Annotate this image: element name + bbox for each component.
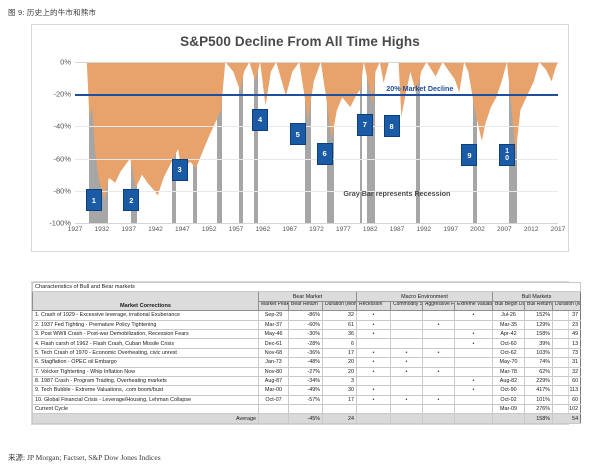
cell-bull-return: 276% xyxy=(525,405,553,414)
y-axis-tick-label: -60% xyxy=(53,154,71,163)
cell-recession: • xyxy=(357,320,391,329)
figure-page: 图 9: 历史上的牛市和熊市 S&P500 Decline From All T… xyxy=(0,0,600,471)
cell-bear-duration: 61 xyxy=(323,320,357,329)
correction-name: 2. 1937 Fed Tighting - Premature Policy … xyxy=(33,320,259,329)
x-axis-tick-label: 1942 xyxy=(148,226,163,233)
col-bear-return: Bear Return xyxy=(289,301,323,310)
cell-recession: • xyxy=(357,311,391,320)
x-axis-tick-label: 1957 xyxy=(229,226,244,233)
correction-name: 10. Global Financial Crisis - Leverage/H… xyxy=(33,395,259,404)
table-row[interactable]: 4. Flash carsh of 1962 - Flash Crash, Cu… xyxy=(33,339,581,348)
cell-extreme-valuations: • xyxy=(455,329,493,338)
chart-gridline xyxy=(75,223,558,224)
x-axis-tick-label: 1967 xyxy=(282,226,297,233)
cell-recession: • xyxy=(357,358,391,367)
y-axis-tick-label: 0% xyxy=(60,58,71,67)
col-market-peak: Market Peak xyxy=(259,301,289,310)
cell-commodity-spike: • xyxy=(391,358,423,367)
col-bull-return: Bull Return xyxy=(525,301,553,310)
source-note: 来源: JP Morgan; Factset, S&P Dow Jones In… xyxy=(8,452,161,463)
x-axis-tick-label: 1947 xyxy=(175,226,190,233)
x-axis-tick-label: 1982 xyxy=(363,226,378,233)
correction-name: Current Cycle xyxy=(33,405,259,414)
col-bull-begin-date: Bull Begin Date xyxy=(493,301,525,310)
cell-bull-duration: 23 xyxy=(553,320,581,329)
cell-aggressive-fed xyxy=(423,376,455,385)
x-axis-tick-label: 1992 xyxy=(416,226,431,233)
cell-bear-return: -49% xyxy=(289,386,323,395)
x-axis-tick-label: 1997 xyxy=(443,226,458,233)
col-bear-duration: Duration (Months) xyxy=(323,301,357,310)
cell-bull-begin-date: Oct-90 xyxy=(493,386,525,395)
chart-callout-marker-5[interactable]: 5 xyxy=(290,123,306,145)
average-recession xyxy=(357,414,391,423)
cell-market-peak: Mar-00 xyxy=(259,386,289,395)
correction-name: 7. Volcker Tighterting - Whip Inflation … xyxy=(33,367,259,376)
table-row[interactable]: 1. Crash of 1929 - Excessive leverage, i… xyxy=(33,311,581,320)
chart-callout-marker-9[interactable]: 9 xyxy=(461,144,477,166)
correction-name: 9. Tech Bubble - Extreme Valuations, .co… xyxy=(33,386,259,395)
cell-bear-return: -57% xyxy=(289,395,323,404)
cell-aggressive-fed: • xyxy=(423,395,455,404)
cell-recession xyxy=(357,376,391,385)
x-axis-tick-label: 1952 xyxy=(202,226,217,233)
cell-bear-duration: 3 xyxy=(323,376,357,385)
cell-commodity-spike xyxy=(391,405,423,414)
cell-bull-begin-date: Oct-02 xyxy=(493,395,525,404)
cell-extreme-valuations xyxy=(455,358,493,367)
cell-bull-return: 103% xyxy=(525,348,553,357)
cell-bear-duration xyxy=(323,405,357,414)
cell-bear-duration: 30 xyxy=(323,386,357,395)
average-extreme-valuations xyxy=(455,414,493,423)
chart-callout-marker-1[interactable]: 1 xyxy=(86,189,102,211)
average-bull-duration: 54 xyxy=(553,414,581,423)
cell-recession xyxy=(357,339,391,348)
cell-extreme-valuations xyxy=(455,395,493,404)
table-row[interactable]: 5. Tech Crash of 1970 - Economic Overhea… xyxy=(33,348,581,357)
cell-aggressive-fed xyxy=(423,405,455,414)
cell-bull-begin-date: Apr-42 xyxy=(493,329,525,338)
cell-commodity-spike xyxy=(391,376,423,385)
cell-bear-return: -48% xyxy=(289,358,323,367)
correction-name: 1. Crash of 1929 - Excessive leverage, i… xyxy=(33,311,259,320)
cell-bear-return: -27% xyxy=(289,367,323,376)
table-caption-row: Characteristics of Bull and Bear markets xyxy=(33,283,581,292)
x-axis-tick-label: 1932 xyxy=(94,226,109,233)
cell-bull-begin-date: Oct-62 xyxy=(493,348,525,357)
cell-extreme-valuations xyxy=(455,405,493,414)
table-row[interactable]: 10. Global Financial Crisis - Leverage/H… xyxy=(33,395,581,404)
cell-bear-return: -60% xyxy=(289,320,323,329)
cell-extreme-valuations: • xyxy=(455,376,493,385)
market-corrections-header: Market Corrections xyxy=(33,292,259,311)
chart-callout-marker-6[interactable]: 6 xyxy=(317,143,333,165)
average-market-peak xyxy=(259,414,289,423)
x-axis-tick-label: 2017 xyxy=(551,226,566,233)
cell-bear-duration: 17 xyxy=(323,348,357,357)
market-decline-threshold-label: 20% Market Decline xyxy=(386,84,453,93)
cell-extreme-valuations: • xyxy=(455,311,493,320)
cell-bull-begin-date: Aug-82 xyxy=(493,376,525,385)
cell-bear-duration: 6 xyxy=(323,339,357,348)
cell-bull-return: 39% xyxy=(525,339,553,348)
cell-bull-return: 101% xyxy=(525,395,553,404)
col-commodity-spike: Commodity Spike xyxy=(391,301,423,310)
chart-panel: S&P500 Decline From All Time Highs 0%-20… xyxy=(31,24,569,252)
cell-bear-return: -28% xyxy=(289,339,323,348)
cell-market-peak: May-46 xyxy=(259,329,289,338)
chart-callout-marker-8[interactable]: 8 xyxy=(384,115,400,137)
cell-market-peak: Sep-29 xyxy=(259,311,289,320)
cell-bull-begin-date: Mar-09 xyxy=(493,405,525,414)
cell-commodity-spike xyxy=(391,339,423,348)
cell-market-peak xyxy=(259,405,289,414)
cell-recession: • xyxy=(357,348,391,357)
correction-name: 5. Tech Crash of 1970 - Economic Overhea… xyxy=(33,348,259,357)
cell-market-peak: Nov-68 xyxy=(259,348,289,357)
cell-bull-return: 417% xyxy=(525,386,553,395)
col-bull-duration: Duration (Months) xyxy=(553,301,581,310)
group-header-macro-environment: Macro Environment xyxy=(357,292,493,301)
cell-bull-return: 229% xyxy=(525,376,553,385)
cell-extreme-valuations xyxy=(455,348,493,357)
cell-bull-duration: 113 xyxy=(553,386,581,395)
chart-callout-marker-10[interactable]: 10 xyxy=(499,144,515,166)
cell-aggressive-fed xyxy=(423,386,455,395)
cell-bull-return: 158% xyxy=(525,329,553,338)
cell-bull-return: 152% xyxy=(525,311,553,320)
table-row[interactable]: 2. 1937 Fed Tighting - Premature Policy … xyxy=(33,320,581,329)
average-bull-return: 158% xyxy=(525,414,553,423)
table-row[interactable]: Current CycleMar-09276%102 xyxy=(33,405,581,414)
cell-bull-duration: 60 xyxy=(553,376,581,385)
chart-callout-marker-3[interactable]: 3 xyxy=(172,159,188,181)
x-axis-tick-label: 1987 xyxy=(390,226,405,233)
cell-commodity-spike xyxy=(391,311,423,320)
cell-extreme-valuations xyxy=(455,367,493,376)
group-header-row: Market Corrections Bear Market Macro Env… xyxy=(33,292,581,301)
cell-bull-duration: 13 xyxy=(553,339,581,348)
cell-recession xyxy=(357,405,391,414)
cell-bear-duration: 17 xyxy=(323,395,357,404)
cell-bull-return: 74% xyxy=(525,358,553,367)
cell-bear-duration: 20 xyxy=(323,367,357,376)
cell-bull-begin-date: Oct-60 xyxy=(493,339,525,348)
cell-aggressive-fed xyxy=(423,339,455,348)
cell-recession: • xyxy=(357,395,391,404)
cell-extreme-valuations: • xyxy=(455,339,493,348)
cell-bear-return: -36% xyxy=(289,348,323,357)
cell-aggressive-fed: • xyxy=(423,367,455,376)
col-aggressive-fed: Aggressive Fed xyxy=(423,301,455,310)
cell-aggressive-fed: • xyxy=(423,320,455,329)
cell-bear-return: -30% xyxy=(289,329,323,338)
average-aggressive-fed xyxy=(423,414,455,423)
recession-legend-label: Gray Bar represents Recession xyxy=(343,189,450,198)
correction-name: 8. 1987 Crash - Program Trading, Overhea… xyxy=(33,376,259,385)
average-bull-begin xyxy=(493,414,525,423)
cell-bull-return: 62% xyxy=(525,367,553,376)
cell-market-peak: Jan-73 xyxy=(259,358,289,367)
table-row[interactable]: 9. Tech Bubble - Extreme Valuations, .co… xyxy=(33,386,581,395)
cell-bull-duration: 73 xyxy=(553,348,581,357)
group-header-bull-markets: Bull Markets xyxy=(493,292,581,301)
correction-name: 4. Flash carsh of 1962 - Flash Crash, Cu… xyxy=(33,339,259,348)
cell-recession: • xyxy=(357,367,391,376)
table-body: 1. Crash of 1929 - Excessive leverage, i… xyxy=(33,311,581,414)
cell-bear-return: -34% xyxy=(289,376,323,385)
cell-aggressive-fed xyxy=(423,329,455,338)
cell-bull-duration: 49 xyxy=(553,329,581,338)
cell-bull-duration: 102 xyxy=(553,405,581,414)
cell-commodity-spike xyxy=(391,320,423,329)
average-bear-return: -45% xyxy=(289,414,323,423)
group-header-bear-market: Bear Market xyxy=(259,292,357,301)
y-axis-tick-label: -20% xyxy=(53,90,71,99)
cell-aggressive-fed: • xyxy=(423,348,455,357)
figure-caption: 图 9: 历史上的牛市和熊市 xyxy=(8,7,96,18)
cell-commodity-spike: • xyxy=(391,367,423,376)
cell-recession: • xyxy=(357,386,391,395)
cell-bull-duration: 60 xyxy=(553,395,581,404)
x-axis-tick-label: 2002 xyxy=(470,226,485,233)
chart-plot-area: 0%-20%-40%-60%-80%-100%19271932193719421… xyxy=(75,62,558,223)
cell-bull-duration: 37 xyxy=(553,311,581,320)
chart-gridline xyxy=(75,62,558,63)
cell-bear-duration: 36 xyxy=(323,329,357,338)
col-extreme-valuations: Extreme Valuations xyxy=(455,301,493,310)
x-axis-tick-label: 1977 xyxy=(336,226,351,233)
x-axis-tick-label: 1972 xyxy=(309,226,324,233)
cell-bull-begin-date: Mar-35 xyxy=(493,320,525,329)
cell-commodity-spike: • xyxy=(391,348,423,357)
cell-bull-begin-date: Mar-78 xyxy=(493,367,525,376)
table-caption: Characteristics of Bull and Bear markets xyxy=(33,283,581,292)
x-axis-tick-label: 1937 xyxy=(121,226,136,233)
cell-market-peak: Mar-37 xyxy=(259,320,289,329)
cell-commodity-spike: • xyxy=(391,395,423,404)
chart-gridline xyxy=(75,191,558,192)
cell-bull-duration: 32 xyxy=(553,367,581,376)
cell-extreme-valuations: • xyxy=(455,386,493,395)
market-decline-threshold-line xyxy=(75,94,558,96)
x-axis-tick-label: 2007 xyxy=(497,226,512,233)
cell-aggressive-fed xyxy=(423,311,455,320)
table-row[interactable]: 3. Post WWII Crash - Post-war Demobiliza… xyxy=(33,329,581,338)
x-axis-tick-label: 1927 xyxy=(68,226,83,233)
cell-recession: • xyxy=(357,329,391,338)
cell-bear-duration: 20 xyxy=(323,358,357,367)
cell-market-peak: Dec-61 xyxy=(259,339,289,348)
cell-bull-duration: 31 xyxy=(553,358,581,367)
average-bear-duration: 24 xyxy=(323,414,357,423)
bull-bear-table: Characteristics of Bull and Bear markets… xyxy=(32,282,581,424)
table-row[interactable]: 6. Stagflation - OPEC oil EmbargoJan-73-… xyxy=(33,358,581,367)
cell-market-peak: Oct-07 xyxy=(259,395,289,404)
chart-gridline xyxy=(75,126,558,127)
cell-aggressive-fed xyxy=(423,358,455,367)
cell-bear-return xyxy=(289,405,323,414)
cell-bear-return: -86% xyxy=(289,311,323,320)
x-axis-tick-label: 2012 xyxy=(524,226,539,233)
y-axis-tick-label: -80% xyxy=(53,186,71,195)
average-commodity-spike xyxy=(391,414,423,423)
cell-bear-duration: 32 xyxy=(323,311,357,320)
average-label: Average xyxy=(33,414,259,423)
table-row[interactable]: 7. Volcker Tighterting - Whip Inflation … xyxy=(33,367,581,376)
cell-bull-return: 129% xyxy=(525,320,553,329)
col-recession: Recession xyxy=(357,301,391,310)
correction-name: 6. Stagflation - OPEC oil Embargo xyxy=(33,358,259,367)
bull-bear-table-panel: Characteristics of Bull and Bear markets… xyxy=(31,281,569,425)
chart-title: S&P500 Decline From All Time Highs xyxy=(32,34,568,49)
table-average-row: Average -45% 24 158% 54 xyxy=(33,414,581,423)
correction-name: 3. Post WWII Crash - Post-war Demobiliza… xyxy=(33,329,259,338)
cell-commodity-spike xyxy=(391,329,423,338)
cell-market-peak: Aug-87 xyxy=(259,376,289,385)
cell-bull-begin-date: Jul-26 xyxy=(493,311,525,320)
chart-callout-marker-7[interactable]: 7 xyxy=(357,114,373,136)
y-axis-tick-label: -40% xyxy=(53,122,71,131)
chart-callout-marker-4[interactable]: 4 xyxy=(252,109,268,131)
table-row[interactable]: 8. 1987 Crash - Program Trading, Overhea… xyxy=(33,376,581,385)
chart-callout-marker-2[interactable]: 2 xyxy=(123,189,139,211)
cell-market-peak: Nov-80 xyxy=(259,367,289,376)
cell-extreme-valuations xyxy=(455,320,493,329)
cell-bull-begin-date: May-70 xyxy=(493,358,525,367)
x-axis-tick-label: 1962 xyxy=(255,226,270,233)
cell-commodity-spike xyxy=(391,386,423,395)
